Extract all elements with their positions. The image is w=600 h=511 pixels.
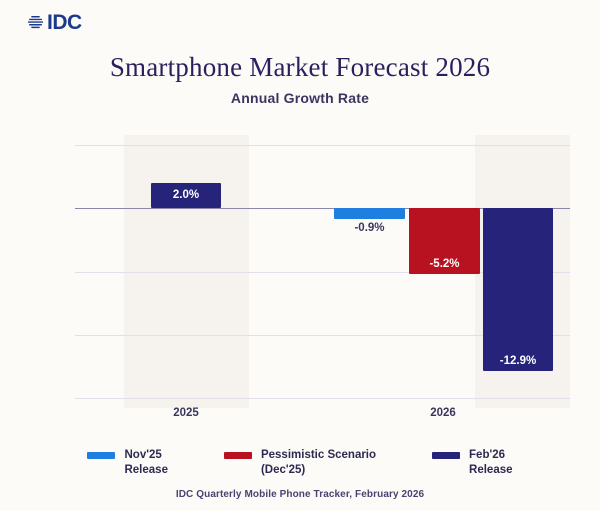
idc-globe-icon <box>26 13 45 32</box>
legend-label-pessimistic: Pessimistic Scenario (Dec'25) <box>261 448 376 478</box>
source-note: IDC Quarterly Mobile Phone Tracker, Febr… <box>0 489 600 500</box>
idc-logo: IDC <box>26 13 82 32</box>
legend: Nov'25 Release Pessimistic Scenario (Dec… <box>0 448 600 478</box>
legend-item-nov25[interactable]: Nov'25 Release <box>87 448 167 478</box>
plot-area: 5% 0% -5% -10% -15% 2.0% -0.9% -5.2% -12… <box>75 145 570 398</box>
chart-canvas: IDC Smartphone Market Forecast 2026 Annu… <box>0 0 600 511</box>
bar-2026-nov25[interactable] <box>334 208 405 219</box>
legend-swatch-nov25 <box>87 452 115 459</box>
legend-label-feb26: Feb'26 Release <box>469 448 512 478</box>
x-label-2025: 2025 <box>173 407 199 419</box>
gridline-5 <box>75 145 570 146</box>
bar-label-2025-feb26: 2.0% <box>151 189 221 201</box>
page-subtitle: Annual Growth Rate <box>0 90 600 106</box>
bar-label-2026-feb26: -12.9% <box>483 355 553 367</box>
legend-item-pessimistic[interactable]: Pessimistic Scenario (Dec'25) <box>224 448 376 478</box>
gridline-m15 <box>75 398 570 399</box>
bar-label-2026-pessimistic: -5.2% <box>409 258 480 270</box>
legend-label-nov25: Nov'25 Release <box>124 448 167 478</box>
bar-label-2026-nov25: -0.9% <box>334 222 405 234</box>
legend-swatch-pessimistic <box>224 452 252 459</box>
bar-2026-feb26[interactable] <box>483 208 553 371</box>
legend-item-feb26[interactable]: Feb'26 Release <box>432 448 512 478</box>
x-label-2026: 2026 <box>430 407 456 419</box>
idc-wordmark: IDC <box>47 13 82 32</box>
legend-swatch-feb26 <box>432 452 460 459</box>
page-title: Smartphone Market Forecast 2026 <box>0 52 600 83</box>
